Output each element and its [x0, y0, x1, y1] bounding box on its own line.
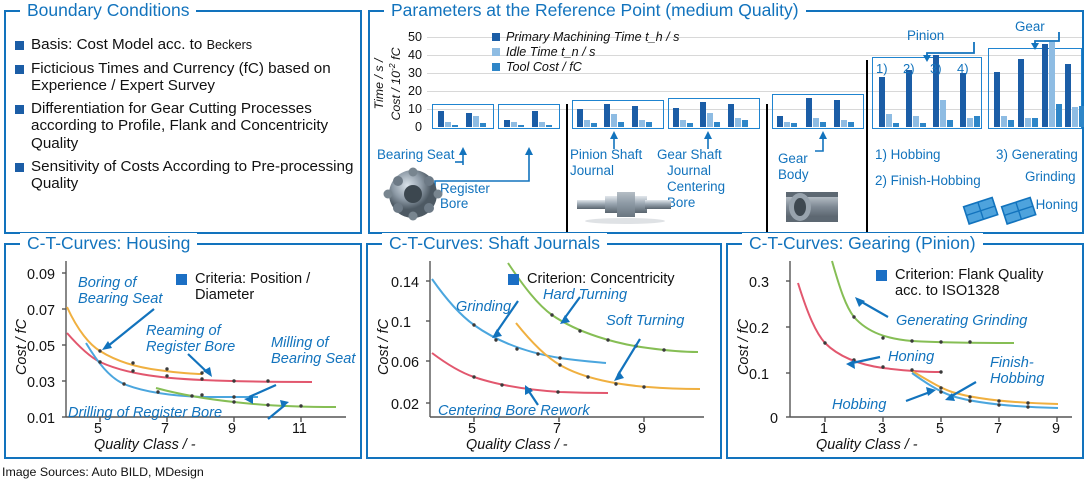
panel-title-boundary: Boundary Conditions — [20, 0, 196, 20]
panel-parameters-reference-point: Parameters at the Reference Point (mediu… — [368, 10, 1084, 234]
leader-line-gear-shaft — [700, 129, 720, 151]
bar-cost — [480, 123, 486, 127]
bar-primary — [1065, 64, 1071, 127]
callout-arrow-gear — [1000, 30, 1088, 52]
leader-line-pinion-shaft — [606, 129, 626, 151]
criteria-line1: Criteria: Position / — [195, 271, 310, 287]
gridline — [427, 91, 1082, 92]
bar-idle — [913, 116, 919, 127]
bullet-text-main: Basis: Cost Model acc. to — [31, 36, 207, 53]
legend-label: Idle Time t_n / s — [506, 45, 595, 59]
panel-ct-curves-shaft-journals: C-T-Curves: Shaft Journals Cost / fC Qua… — [366, 243, 722, 459]
bar-idle — [511, 122, 517, 127]
criteria-legend-shaft: Criterion: Concentricity — [508, 271, 718, 287]
bar-primary — [577, 109, 583, 127]
curve-label-reaming-line1: Reaming of — [146, 323, 221, 339]
bar-primary — [438, 111, 444, 127]
bar-cost — [452, 125, 458, 127]
curve-label-hard-turning: Hard Turning — [543, 287, 627, 303]
process-number-3: 3) — [930, 62, 942, 77]
bullet-square-icon — [15, 65, 24, 74]
criteria-line1: Criterion: Flank Quality — [895, 267, 1043, 283]
bullet-text: Ficticious Times and Currency (fC) based… — [31, 60, 354, 95]
bar-primary — [994, 72, 1000, 127]
leader-line-gear-body — [775, 129, 845, 159]
shaft-photo — [575, 184, 675, 226]
bullet-square-icon — [15, 105, 24, 114]
bar-idle — [940, 100, 946, 127]
component-label-gear-body-line2: Body — [778, 168, 809, 183]
curve-label-milling: Milling of Bearing Seat — [271, 335, 355, 367]
curve-label-reaming-line2: Register Bore — [146, 339, 235, 355]
y-tick-20: 20 — [400, 84, 422, 98]
bar-cost — [920, 123, 926, 127]
bar-cost — [1008, 120, 1014, 127]
y-tick-50: 50 — [400, 30, 422, 44]
curve-label-grinding: Grinding — [456, 299, 511, 315]
bar-cost — [893, 123, 899, 127]
gear-photo — [778, 184, 848, 230]
component-label-pinion-shaft-line2: Journal — [570, 164, 614, 179]
bullet-text: Sensitivity of Costs According to Pre-pr… — [31, 158, 354, 193]
curve-label-generating-grinding: Generating Grinding — [896, 313, 1027, 329]
bar-idle — [611, 114, 617, 127]
list-item: Ficticious Times and Currency (fC) based… — [15, 60, 354, 95]
process-legend-grinding: Grinding — [1025, 170, 1076, 185]
curve-label-centering-bore-rework: Centering Bore Rework — [438, 403, 590, 419]
bar-chart-y-axis-label-1: Time / s / — [372, 38, 386, 130]
bar-cost — [1079, 106, 1084, 127]
legend-item: Tool Cost / fC — [492, 60, 679, 74]
section-divider — [866, 60, 868, 232]
bar-idle — [841, 120, 847, 127]
process-legend-hobbing: 1) Hobbing — [875, 148, 941, 163]
bar-idle — [639, 120, 645, 127]
criteria-line2: acc. to ISO1328 — [895, 283, 1000, 299]
curve-label-finish-hobbing: Finish- Hobbing — [990, 355, 1044, 387]
bar-cost — [646, 122, 652, 127]
y-tick-0: 0 — [400, 120, 422, 134]
bar-chart-legend: Primary Machining Time t_h / s Idle Time… — [492, 30, 679, 75]
bar-chart: Time / s / Cost / 10-2 fC 50 40 30 20 10… — [370, 12, 1082, 232]
bar-primary — [906, 70, 912, 127]
boundary-bullet-list: Basis: Cost Model acc. to Beckers Fictic… — [15, 36, 354, 198]
curve-label-hobbing: Hobbing — [832, 397, 886, 413]
panel-ct-curves-housing: C-T-Curves: Housing Cost / fC Quality Cl… — [4, 243, 362, 459]
bar-primary — [806, 98, 812, 127]
bar-idle — [473, 116, 479, 127]
line-chart-shaft: Cost / fC Quality Class / - 0.14 0.1 0.0… — [368, 245, 720, 457]
process-number-4: 4) — [957, 62, 969, 77]
list-item: Basis: Cost Model acc. to Beckers — [15, 36, 354, 55]
legend-item: Idle Time t_n / s — [492, 45, 679, 59]
bar-primary — [777, 116, 783, 127]
curve-label-finish-line2: Hobbing — [990, 371, 1044, 387]
bar-idle — [967, 118, 973, 127]
bullet-text: Differentiation for Gear Cutting Process… — [31, 100, 354, 153]
bar-primary — [532, 111, 538, 127]
process-number-2: 2) — [903, 62, 915, 77]
bar-idle — [784, 122, 790, 127]
process-legend-finish-hobbing: 2) Finish-Hobbing — [875, 174, 981, 189]
curve-label-boring: Boring of Bearing Seat — [78, 275, 162, 307]
bar-cost — [1032, 118, 1038, 127]
criteria-swatch-icon — [508, 274, 519, 285]
bullet-square-icon — [15, 41, 24, 50]
curve-label-reaming: Reaming of Register Bore — [146, 323, 235, 355]
legend-item: Primary Machining Time t_h / s — [492, 30, 679, 44]
bar-primary — [673, 108, 679, 127]
bar-primary — [504, 120, 510, 127]
housing-photo — [380, 164, 446, 224]
bar-cost — [947, 120, 953, 127]
bar-idle — [886, 114, 892, 127]
bar-cost — [974, 116, 980, 127]
section-divider — [766, 104, 768, 232]
curve-label-boring-line2: Bearing Seat — [78, 291, 162, 307]
bar-primary — [700, 102, 706, 127]
legend-swatch-tool-cost — [492, 63, 500, 71]
bar-idle — [1025, 118, 1031, 127]
line-chart-gearing: Cost / fC Quality Class / - 0.3 0.2 0.1 … — [728, 245, 1082, 457]
bar-primary — [466, 113, 472, 127]
criteria-text: Criterion: Concentricity — [527, 271, 675, 287]
bar-cost — [742, 120, 748, 127]
line-chart-housing: Cost / fC Quality Class / - 0.09 0.07 0.… — [6, 245, 360, 457]
criteria-swatch-icon — [876, 270, 887, 281]
bar-primary — [1042, 44, 1048, 127]
criteria-swatch-icon — [176, 274, 187, 285]
curve-label-boring-line1: Boring of — [78, 275, 136, 291]
curve-label-milling-line2: Bearing Seat — [271, 351, 355, 367]
legend-label: Tool Cost / fC — [506, 60, 582, 74]
bar-primary — [879, 77, 885, 127]
criteria-line2: Diameter — [195, 287, 254, 303]
bar-cost — [848, 122, 854, 127]
bar-idle — [539, 122, 545, 127]
legend-swatch-primary-machining-time — [492, 33, 500, 41]
legend-swatch-idle-time — [492, 48, 500, 56]
criteria-text: Criteria: Position / Diameter — [195, 271, 310, 304]
bar-cost — [791, 123, 797, 127]
curve-label-drilling: Drilling of Register Bore — [68, 405, 222, 421]
bar-cost — [591, 123, 597, 127]
bar-idle — [1001, 116, 1007, 127]
bullet-square-icon — [15, 163, 24, 172]
process-number-1: 1) — [876, 62, 888, 77]
bar-idle — [735, 118, 741, 127]
curve-label-milling-line1: Milling of — [271, 335, 329, 351]
y-axis-label-exponent: -2 — [387, 63, 397, 71]
curve-label-soft-turning: Soft Turning — [606, 313, 684, 329]
bar-idle — [1049, 42, 1055, 127]
criteria-legend-gearing: Criterion: Flank Quality acc. to ISO1328 — [876, 267, 1076, 300]
list-item: Sensitivity of Costs According to Pre-pr… — [15, 158, 354, 193]
panel-boundary-conditions: Boundary Conditions Basis: Cost Model ac… — [4, 10, 362, 234]
list-item: Differentiation for Gear Cutting Process… — [15, 100, 354, 153]
bar-cost — [1056, 104, 1062, 127]
section-divider — [566, 104, 568, 232]
bar-idle — [813, 118, 819, 127]
bullet-text-smallcaps: Beckers — [207, 38, 253, 52]
y-tick-30: 30 — [400, 66, 422, 80]
curve-label-honing: Honing — [888, 349, 934, 365]
bar-idle — [445, 122, 451, 127]
panel-ct-curves-gearing: C-T-Curves: Gearing (Pinion) Cost / fC Q… — [726, 243, 1084, 459]
bar-idle — [707, 113, 713, 127]
bar-primary — [1018, 59, 1024, 127]
curve-label-finish-line1: Finish- — [990, 355, 1034, 371]
bar-cost — [820, 122, 826, 127]
bar-idle — [584, 120, 590, 127]
bar-cost — [687, 123, 693, 127]
bar-primary — [632, 106, 638, 127]
bar-idle — [680, 120, 686, 127]
bar-cost — [714, 122, 720, 127]
y-axis-label-time: Time / s / — [372, 59, 386, 110]
component-label-gear-shaft-line3: Centering — [667, 180, 725, 195]
component-label-gear-shaft-line2: Journal — [667, 164, 711, 179]
legend-label: Primary Machining Time t_h / s — [506, 30, 679, 44]
bullet-text: Basis: Cost Model acc. to Beckers — [31, 36, 252, 55]
bar-cost — [618, 122, 624, 127]
bar-primary — [604, 104, 610, 127]
callout-arrow-pinion — [890, 40, 1000, 62]
process-legend-generating: 3) Generating — [996, 148, 1078, 163]
bar-primary — [728, 104, 734, 127]
bar-cost — [546, 125, 552, 127]
criteria-text: Criterion: Flank Quality acc. to ISO1328 — [895, 267, 1043, 300]
y-tick-40: 40 — [400, 48, 422, 62]
bar-primary — [960, 73, 966, 127]
bar-primary — [834, 100, 840, 127]
image-sources-footer: Image Sources: Auto BILD, MDesign — [2, 465, 204, 479]
bar-idle — [1072, 107, 1078, 127]
y-tick-10: 10 — [400, 102, 422, 116]
criteria-legend-housing: Criteria: Position / Diameter — [176, 271, 346, 304]
slide-root: Boundary Conditions Basis: Cost Model ac… — [0, 0, 1088, 483]
bar-cost — [518, 125, 524, 127]
hob-tool-icons — [962, 194, 1040, 230]
